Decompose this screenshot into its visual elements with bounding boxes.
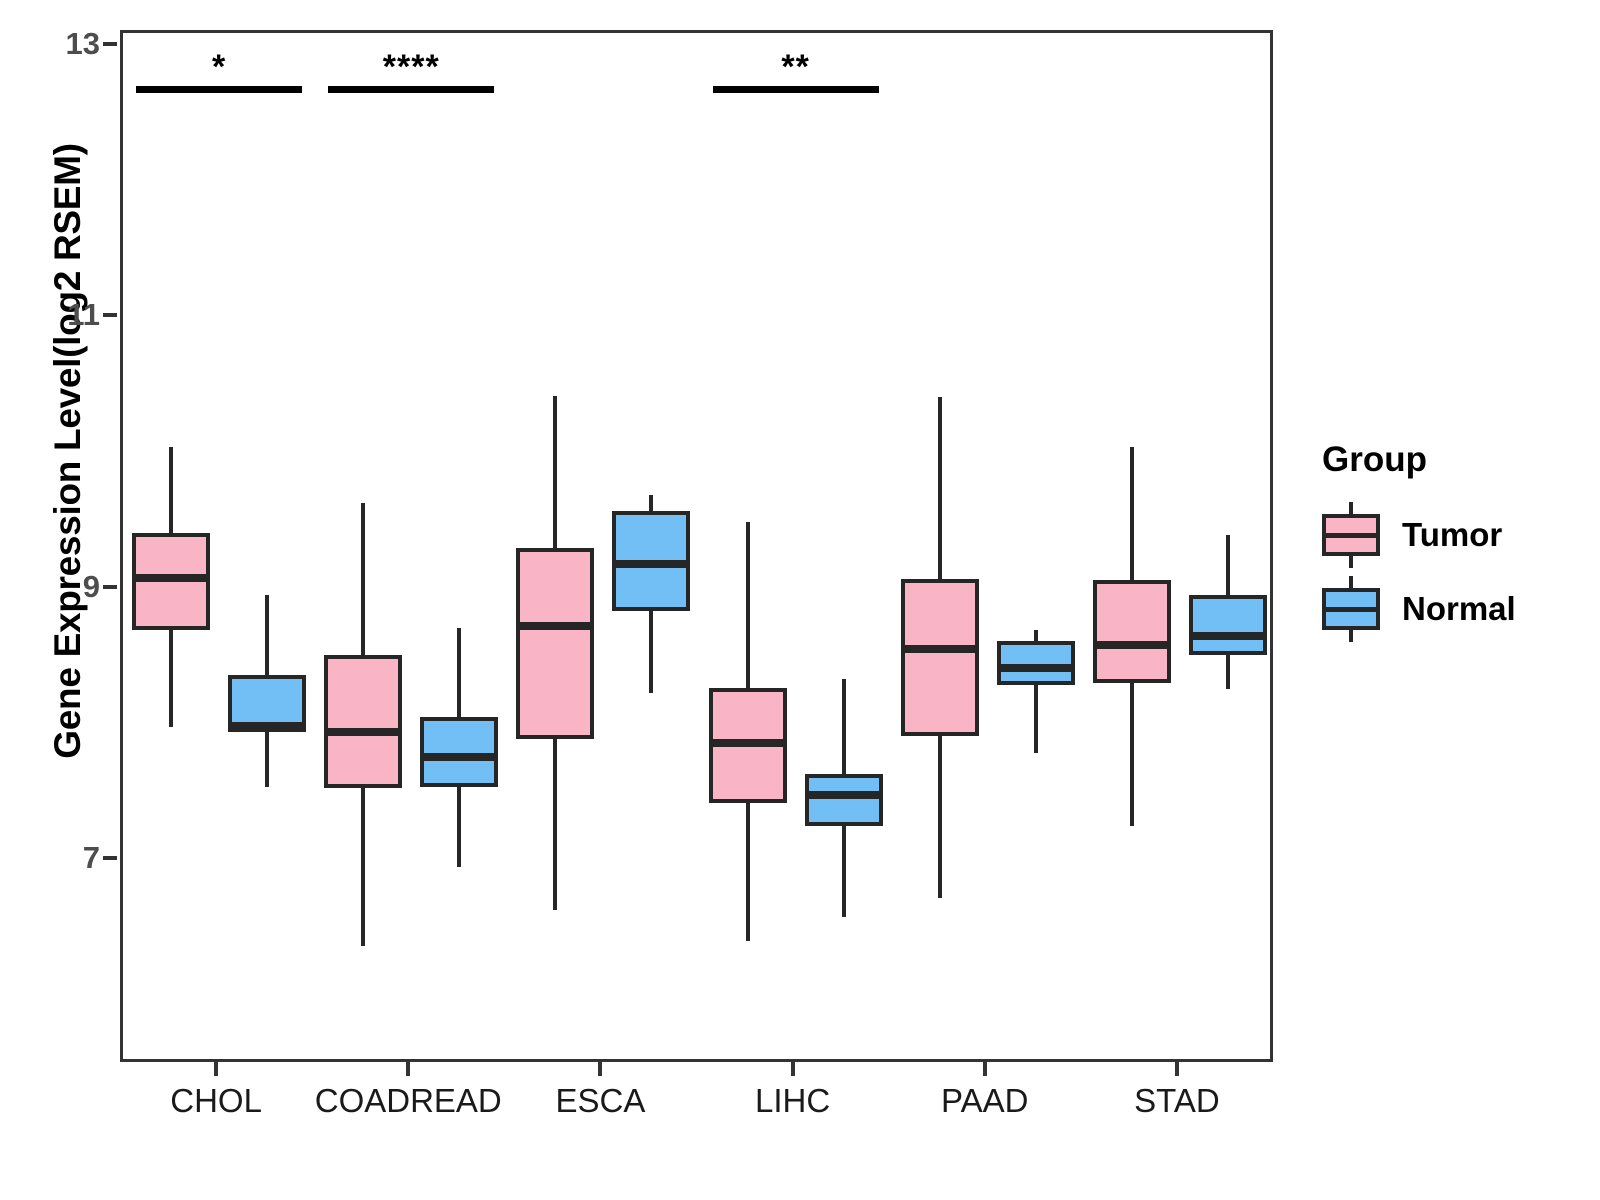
legend-title: Group bbox=[1322, 440, 1592, 480]
x-tick-label-paad: PAAD bbox=[941, 1082, 1028, 1120]
box-median-line bbox=[420, 753, 498, 761]
box-median-line bbox=[132, 574, 210, 582]
x-tick-mark bbox=[1175, 1062, 1179, 1076]
box-rect[interactable] bbox=[805, 774, 883, 826]
box-median-line bbox=[709, 739, 787, 747]
y-tick-label: 7 bbox=[30, 840, 100, 876]
x-tick-label-lihc: LIHC bbox=[755, 1082, 830, 1120]
box-rect[interactable] bbox=[1093, 580, 1171, 683]
x-tick-mark bbox=[406, 1062, 410, 1076]
y-tick-mark bbox=[103, 42, 117, 46]
box-median-line bbox=[1093, 641, 1171, 649]
significance-label: **** bbox=[383, 50, 440, 84]
y-tick-mark bbox=[103, 856, 117, 860]
significance-bar bbox=[328, 86, 494, 93]
legend-key-icon bbox=[1322, 502, 1380, 568]
box-rect[interactable] bbox=[516, 548, 594, 739]
x-tick-mark bbox=[791, 1062, 795, 1076]
y-tick-mark bbox=[103, 313, 117, 317]
box-rect[interactable] bbox=[324, 655, 402, 788]
plot-panel: ******* bbox=[120, 30, 1273, 1062]
significance-bar bbox=[713, 86, 879, 93]
box-rect[interactable] bbox=[901, 579, 979, 737]
legend: Group TumorNormal bbox=[1322, 440, 1592, 650]
legend-item-tumor[interactable]: Tumor bbox=[1322, 502, 1592, 568]
box-median-line bbox=[805, 791, 883, 799]
box-median-line bbox=[612, 560, 690, 568]
box-rect[interactable] bbox=[997, 641, 1075, 684]
significance-label: ** bbox=[781, 50, 809, 84]
x-tick-label-stad: STAD bbox=[1134, 1082, 1220, 1120]
box-median-line bbox=[228, 722, 306, 730]
box-median-line bbox=[1189, 632, 1267, 640]
x-axis: CHOLCOADREADESCALIHCPAADSTAD bbox=[120, 1062, 1273, 1142]
y-tick-label: 11 bbox=[30, 297, 100, 333]
significance-label: * bbox=[212, 50, 226, 84]
legend-key-icon bbox=[1322, 576, 1380, 642]
x-tick-mark bbox=[214, 1062, 218, 1076]
box-rect[interactable] bbox=[132, 533, 210, 631]
significance-bar bbox=[136, 86, 302, 93]
y-tick-label: 13 bbox=[30, 26, 100, 62]
box-rect[interactable] bbox=[1189, 595, 1267, 655]
x-tick-label-esca: ESCA bbox=[555, 1082, 645, 1120]
x-tick-label-coadread: COADREAD bbox=[315, 1082, 502, 1120]
box-median-line bbox=[516, 622, 594, 630]
box-median-line bbox=[901, 645, 979, 653]
legend-item-normal[interactable]: Normal bbox=[1322, 576, 1592, 642]
legend-label: Normal bbox=[1402, 590, 1516, 628]
y-tick-mark bbox=[103, 585, 117, 589]
box-median-line bbox=[997, 664, 1075, 672]
box-median-line bbox=[324, 728, 402, 736]
x-tick-mark bbox=[598, 1062, 602, 1076]
plot-area: ******* bbox=[123, 33, 1270, 1059]
legend-label: Tumor bbox=[1402, 516, 1502, 554]
x-tick-label-chol: CHOL bbox=[170, 1082, 262, 1120]
boxplot-figure: Gene Expression Level(log2 RSEM) 131197 … bbox=[0, 0, 1600, 1200]
legend-entries: TumorNormal bbox=[1322, 502, 1592, 642]
y-axis-ticks: 131197 bbox=[20, 0, 100, 1200]
x-tick-mark bbox=[983, 1062, 987, 1076]
y-tick-label: 9 bbox=[30, 569, 100, 605]
